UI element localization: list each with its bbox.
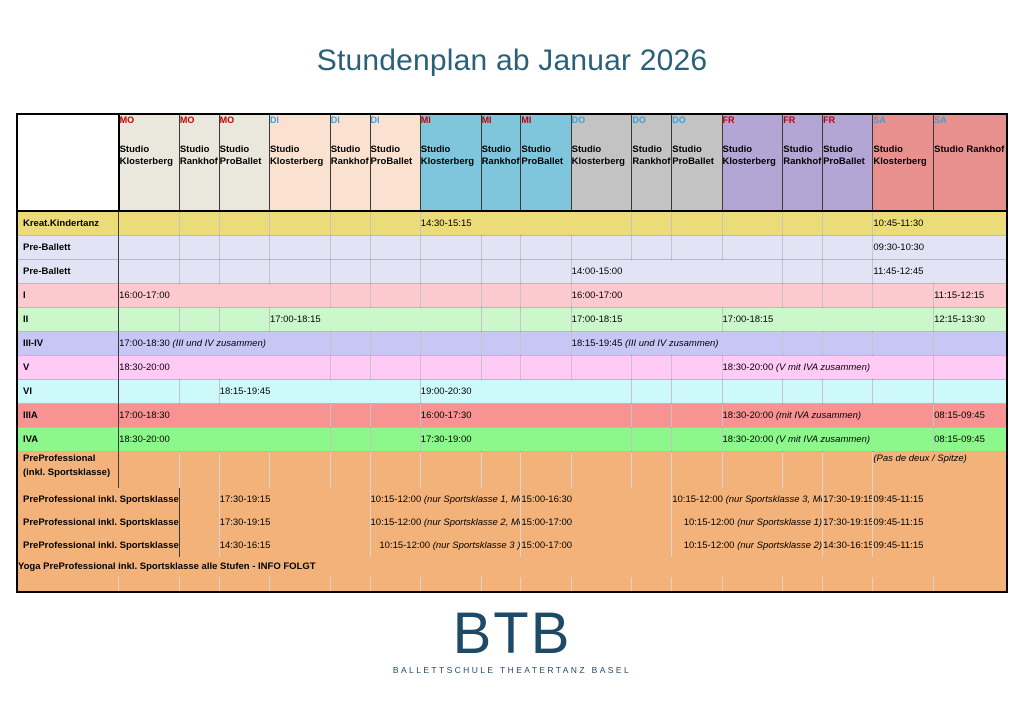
header-day-label: MI bbox=[521, 115, 570, 126]
row-label: III-IV bbox=[18, 332, 119, 356]
class-time: 18:30-20:00 bbox=[723, 410, 774, 421]
schedule-cell-empty bbox=[823, 211, 873, 236]
preprofessional-padding-cell bbox=[481, 577, 521, 591]
page-title: Stundenplan ab Januar 2026 bbox=[0, 44, 1024, 78]
class-time: 16:00-17:30 bbox=[421, 410, 472, 421]
header-cell-mo-3: MOStudio ProBallet bbox=[219, 115, 269, 211]
class-note: (nur Sportsklasse 2, Modern) bbox=[421, 517, 521, 528]
schedule-cell-empty bbox=[370, 428, 420, 452]
class-note: (nur Sportsklasse 1) bbox=[734, 517, 822, 528]
schedule-cell-empty bbox=[823, 332, 873, 356]
preprofessional-cell: 15:00-17:00 bbox=[521, 511, 672, 534]
schedule-cell-empty bbox=[722, 211, 783, 236]
schedule-cell-empty bbox=[672, 356, 722, 380]
schedule-cell-empty bbox=[219, 236, 269, 260]
preprofessional-cell: 09:45-11:15 bbox=[873, 488, 1006, 511]
header-day-label: SA bbox=[934, 115, 1006, 126]
class-time: 17:00-18:15 bbox=[270, 314, 321, 325]
preprofessional-cell: 10:15-12:00 (nur Sportsklasse 2, Modern) bbox=[370, 511, 521, 534]
schedule-cell-empty bbox=[934, 380, 1006, 404]
schedule-cell-empty bbox=[370, 236, 420, 260]
header-studio-label: Studio ProBallet bbox=[823, 144, 872, 168]
class-time: 18:30-20:00 bbox=[119, 434, 170, 445]
row-label: Kreat.Kindertanz bbox=[18, 211, 119, 236]
schedule-cell-empty bbox=[823, 284, 873, 308]
class-note: (nur Sportsklasse 3 ) bbox=[430, 540, 520, 551]
header-day-label: DI bbox=[371, 115, 420, 126]
header-day-label: MI bbox=[421, 115, 481, 126]
preprofessional-header-cell bbox=[722, 452, 783, 488]
schedule-cell-empty bbox=[330, 284, 370, 308]
class-time: 10:15-12:00 bbox=[684, 540, 735, 551]
schedule-row: II17:00-18:1517:00-18:1517:00-18:1512:15… bbox=[18, 308, 1006, 332]
class-time: 10:15-12:00 bbox=[371, 494, 422, 505]
schedule-row: Kreat.Kindertanz14:30-15:1510:45-11:30 bbox=[18, 211, 1006, 236]
preprofessional-cell: 10:15-12:00 (nur Sportsklasse 3 ) bbox=[370, 534, 521, 557]
schedule-cell-empty bbox=[330, 356, 370, 380]
schedule-row: IIIA17:00-18:3016:00-17:3018:30-20:00 (m… bbox=[18, 404, 1006, 428]
preprofessional-header-cell bbox=[672, 452, 722, 488]
header-day-label: SA bbox=[873, 115, 933, 126]
schedule-cell-empty bbox=[119, 211, 180, 236]
schedule-cell-empty bbox=[783, 332, 823, 356]
preprofessional-row-label: PreProfessional inkl. Sportsklassen 1 bbox=[18, 488, 179, 511]
class-time: 17:30-19:00 bbox=[421, 434, 472, 445]
preprofessional-cell-empty bbox=[179, 534, 219, 557]
preprofessional-footer-row: Yoga PreProfessional inkl. Sportsklasse … bbox=[18, 557, 1006, 577]
header-studio-label: Studio Rankhof bbox=[783, 144, 822, 168]
schedule-row: I16:00-17:0016:00-17:0011:15-12:15 bbox=[18, 284, 1006, 308]
header-studio-label: Studio Klosterberg bbox=[723, 144, 783, 168]
schedule-cell: 11:45-12:45 bbox=[873, 260, 1006, 284]
preprofessional-header-row: PreProfessional (inkl. Sportsklasse)(Pas… bbox=[18, 452, 1006, 488]
header-day-label: FR bbox=[723, 115, 783, 126]
schedule-cell-empty bbox=[481, 332, 521, 356]
class-time: 17:30-19:15 bbox=[823, 494, 873, 505]
schedule-cell-empty bbox=[632, 404, 672, 428]
preprofessional-cell: 10:15-12:00 (nur Sportsklasse 1, Modern) bbox=[370, 488, 521, 511]
class-note: (nur Sportsklasse 3, Modern) bbox=[723, 494, 823, 505]
preprofessional-note: (Pas de deux / Spitze) bbox=[873, 452, 1006, 488]
row-label: IVA bbox=[18, 428, 119, 452]
schedule-cell-empty bbox=[722, 380, 783, 404]
schedule-cell-empty bbox=[179, 236, 219, 260]
preprofessional-header-cell bbox=[179, 452, 219, 488]
preprofessional-padding-cell bbox=[18, 577, 119, 591]
class-note: (V mit IVA zusammen) bbox=[773, 362, 870, 373]
pas-de-deux-note: (Pas de deux / Spitze) bbox=[873, 453, 966, 464]
schedule-cell-empty bbox=[179, 211, 219, 236]
schedule-cell-empty bbox=[370, 211, 420, 236]
preprofessional-padding-cell bbox=[420, 577, 481, 591]
class-time: 10:15-12:00 bbox=[684, 517, 735, 528]
schedule-cell-empty bbox=[934, 356, 1006, 380]
schedule-cell-empty bbox=[481, 308, 521, 332]
schedule-cell: 19:00-20:30 bbox=[420, 380, 632, 404]
class-time: 16:00-17:00 bbox=[572, 290, 623, 301]
class-time: 18:30-20:00 bbox=[723, 434, 774, 445]
schedule-cell-empty bbox=[571, 356, 632, 380]
header-day-label: DO bbox=[572, 115, 632, 126]
preprofessional-header-cell bbox=[420, 452, 481, 488]
header-cell-do-10: DOStudio Klosterberg bbox=[571, 115, 632, 211]
schedule-cell-empty bbox=[722, 236, 783, 260]
schedule-cell-empty bbox=[420, 332, 481, 356]
header-day-label: MI bbox=[482, 115, 521, 126]
schedule-cell-empty bbox=[330, 332, 370, 356]
preprofessional-padding-cell bbox=[370, 577, 420, 591]
schedule-cell: 16:00-17:00 bbox=[571, 284, 783, 308]
schedule-cell-empty bbox=[219, 308, 269, 332]
preprofessional-cell: 14:30-16:15 bbox=[823, 534, 873, 557]
schedule-cell: 18:30-20:00 (V mit IVA zusammen) bbox=[722, 356, 934, 380]
preprofessional-cell-empty bbox=[179, 488, 219, 511]
header-studio-label: Studio Klosterberg bbox=[572, 144, 632, 168]
header-day-label: DO bbox=[672, 115, 721, 126]
logo-tagline: BALLETTSCHULE THEATERTANZ BASEL bbox=[0, 665, 1024, 675]
schedule-cell-empty bbox=[783, 284, 823, 308]
schedule-cell: 16:00-17:30 bbox=[420, 404, 632, 428]
header-studio-label: Studio Klosterberg bbox=[873, 144, 933, 168]
schedule-cell-empty bbox=[632, 380, 672, 404]
schedule-cell-empty bbox=[783, 236, 823, 260]
class-time: 18:30-20:00 bbox=[119, 362, 170, 373]
schedule-cell: 17:00-18:30 bbox=[119, 404, 331, 428]
header-day-label: DI bbox=[270, 115, 330, 126]
preprofessional-cell: 14:30-16:15 bbox=[219, 534, 370, 557]
schedule-cell-empty bbox=[481, 236, 521, 260]
preprofessional-row-label: PreProfessional inkl. Sportsklassen 2 bbox=[18, 511, 179, 534]
schedule-cell-empty bbox=[269, 260, 330, 284]
schedule-row: V18:30-20:0018:30-20:00 (V mit IVA zusam… bbox=[18, 356, 1006, 380]
class-time: 17:00-18:15 bbox=[572, 314, 623, 325]
schedule-cell-empty bbox=[370, 356, 420, 380]
header-day-label: DO bbox=[632, 115, 671, 126]
header-cell-fr-14: FRStudio Rankhof bbox=[783, 115, 823, 211]
schedule-cell-empty bbox=[370, 284, 420, 308]
preprofessional-cell: 17:30-19:15 bbox=[219, 511, 370, 534]
schedule-cell-empty bbox=[269, 211, 330, 236]
preprofessional-header-cell bbox=[632, 452, 672, 488]
schedule-cell-empty bbox=[934, 332, 1006, 356]
header-day-label: MO bbox=[220, 115, 269, 126]
header-cell-sa-17: SAStudio Rankhof bbox=[934, 115, 1006, 211]
class-time: 16:00-17:00 bbox=[119, 290, 170, 301]
schedule-cell-empty bbox=[420, 356, 481, 380]
schedule-cell-empty bbox=[481, 284, 521, 308]
schedule-cell-empty bbox=[521, 284, 571, 308]
class-time: 17:00-18:30 bbox=[119, 410, 170, 421]
row-label: V bbox=[18, 356, 119, 380]
preprofessional-padding-cell bbox=[219, 577, 269, 591]
schedule-cell-empty bbox=[521, 332, 571, 356]
class-time: 18:15-19:45 bbox=[220, 386, 271, 397]
header-cell-do-12: DOStudio ProBallet bbox=[672, 115, 722, 211]
class-time: 09:45-11:15 bbox=[873, 517, 923, 528]
preprofessional-padding-cell bbox=[330, 577, 370, 591]
header-studio-label: Studio Klosterberg bbox=[270, 144, 330, 168]
preprofessional-padding-cell bbox=[823, 577, 873, 591]
schedule-row: Pre-Ballett14:00-15:0011:45-12:45 bbox=[18, 260, 1006, 284]
header-cell-do-11: DOStudio Rankhof bbox=[632, 115, 672, 211]
schedule-cell: 17:00-18:15 bbox=[722, 308, 934, 332]
schedule-cell: 17:00-18:15 bbox=[571, 308, 722, 332]
schedule-cell-empty bbox=[672, 211, 722, 236]
schedule-cell-empty bbox=[672, 428, 722, 452]
row-label: II bbox=[18, 308, 119, 332]
preprofessional-padding-cell bbox=[179, 577, 219, 591]
schedule-cell: 08:15-09:45 bbox=[934, 428, 1006, 452]
schedule-cell-empty bbox=[521, 308, 571, 332]
header-cell-mi-7: MIStudio Klosterberg bbox=[420, 115, 481, 211]
schedule-cell-empty bbox=[823, 380, 873, 404]
header-cell-di-4: DIStudio Klosterberg bbox=[269, 115, 330, 211]
schedule-cell-empty bbox=[330, 236, 370, 260]
yoga-info-text: Yoga PreProfessional inkl. Sportsklasse … bbox=[18, 557, 1006, 577]
header-cell-mi-8: MIStudio Rankhof bbox=[481, 115, 521, 211]
header-studio-label: Studio ProBallet bbox=[220, 144, 269, 168]
preprofessional-padding-cell bbox=[873, 577, 934, 591]
preprofessional-cell: 15:00-17:00 bbox=[521, 534, 672, 557]
preprofessional-row: PreProfessional inkl. Sportsklassen 314:… bbox=[18, 534, 1006, 557]
schedule-row: VI18:15-19:4519:00-20:30 bbox=[18, 380, 1006, 404]
preprofessional-padding-cell bbox=[672, 577, 722, 591]
class-time: 10:15-12:00 bbox=[371, 517, 422, 528]
class-time: 19:00-20:30 bbox=[421, 386, 472, 397]
schedule-cell: 17:30-19:00 bbox=[420, 428, 632, 452]
row-label: VI bbox=[18, 380, 119, 404]
preprofessional-cell: 09:45-11:15 bbox=[873, 511, 1006, 534]
schedule-cell-empty bbox=[672, 236, 722, 260]
preprofessional-header-cell bbox=[330, 452, 370, 488]
schedule-cell-empty bbox=[873, 380, 934, 404]
header-cell-di-6: DIStudio ProBallet bbox=[370, 115, 420, 211]
schedule-cell-empty bbox=[179, 260, 219, 284]
schedule-cell: 14:00-15:00 bbox=[571, 260, 783, 284]
schedule-header: MOStudio KlosterbergMOStudio RankhofMOSt… bbox=[18, 115, 1006, 211]
class-time: 14:00-15:00 bbox=[572, 266, 623, 277]
preprofessional-header-cell bbox=[783, 452, 823, 488]
preprofessional-cell: 10:15-12:00 (nur Sportsklasse 2) bbox=[672, 534, 823, 557]
preprofessional-cell: 17:30-19:15 bbox=[823, 488, 873, 511]
header-cell-mo-2: MOStudio Rankhof bbox=[179, 115, 219, 211]
header-day-label: MO bbox=[120, 115, 179, 126]
preprofessional-title: PreProfessional (inkl. Sportsklasse) bbox=[18, 452, 119, 488]
schedule-cell-empty bbox=[632, 356, 672, 380]
class-time: 08:15-09:45 bbox=[934, 410, 985, 421]
schedule-cell-empty bbox=[783, 260, 823, 284]
schedule-cell-empty bbox=[481, 260, 521, 284]
preprofessional-padding-cell bbox=[722, 577, 783, 591]
class-time: 17:00-18:30 bbox=[119, 338, 170, 349]
schedule-cell: 14:30-15:15 bbox=[420, 211, 632, 236]
schedule-cell-empty bbox=[873, 284, 934, 308]
class-time: 08:15-09:45 bbox=[934, 434, 985, 445]
schedule-cell-empty bbox=[823, 236, 873, 260]
class-note: (III und IV zusammen) bbox=[622, 338, 718, 349]
schedule-cell: 09:30-10:30 bbox=[873, 236, 1006, 260]
preprofessional-cell: 17:30-19:15 bbox=[823, 511, 873, 534]
class-note: (V mit IVA zusammen) bbox=[773, 434, 870, 445]
schedule-cell-empty bbox=[219, 260, 269, 284]
preprofessional-padding-cell bbox=[783, 577, 823, 591]
class-time: 09:45-11:15 bbox=[873, 540, 923, 551]
schedule-cell-empty bbox=[119, 236, 180, 260]
header-studio-label: Studio ProBallet bbox=[672, 144, 721, 168]
header-studio-label: Studio ProBallet bbox=[521, 144, 570, 168]
preprofessional-cell: 10:15-12:00 (nur Sportsklasse 3, Modern) bbox=[672, 488, 823, 511]
class-time: 15:00-17:00 bbox=[521, 517, 572, 528]
header-studio-label: Studio Klosterberg bbox=[120, 144, 179, 168]
header-cell-sa-16: SAStudio Klosterberg bbox=[873, 115, 934, 211]
class-time: 15:00-17:00 bbox=[521, 540, 572, 551]
schedule-cell-empty bbox=[823, 260, 873, 284]
header-studio-label: Studio Rankhof bbox=[934, 144, 1006, 156]
class-time: 18:15-19:45 bbox=[572, 338, 623, 349]
schedule-cell-empty bbox=[632, 236, 672, 260]
schedule-cell: 18:15-19:45 bbox=[219, 380, 420, 404]
class-time: 11:15-12:15 bbox=[934, 290, 984, 301]
schedule-cell: 17:00-18:15 bbox=[269, 308, 481, 332]
btb-logo: BTB BALLETTSCHULE THEATERTANZ BASEL bbox=[0, 605, 1024, 675]
header-studio-label: Studio Rankhof bbox=[180, 144, 219, 168]
schedule-cell-empty bbox=[330, 260, 370, 284]
preprofessional-header-cell bbox=[823, 452, 873, 488]
class-note: (mit IVA zusammen) bbox=[773, 410, 861, 421]
header-row: MOStudio KlosterbergMOStudio RankhofMOSt… bbox=[18, 115, 1006, 211]
schedule-cell-empty bbox=[370, 404, 420, 428]
preprofessional-padding-cell bbox=[269, 577, 330, 591]
schedule-cell-empty bbox=[119, 308, 180, 332]
schedule-cell: 18:15-19:45 (III und IV zusammen) bbox=[571, 332, 783, 356]
schedule-cell-empty bbox=[632, 428, 672, 452]
class-time: 10:15-12:00 bbox=[672, 494, 723, 505]
class-note: (nur Sportsklasse 1, Modern) bbox=[421, 494, 521, 505]
preprofessional-cell: 10:15-12:00 (nur Sportsklasse 1) bbox=[672, 511, 823, 534]
class-time: 17:30-19:15 bbox=[220, 517, 271, 528]
schedule-cell: 18:30-20:00 bbox=[119, 428, 331, 452]
schedule-table: MOStudio KlosterbergMOStudio RankhofMOSt… bbox=[18, 115, 1006, 591]
header-day-label: DI bbox=[331, 115, 370, 126]
header-cell-fr-15: FRStudio ProBallet bbox=[823, 115, 873, 211]
schedule-cell-empty bbox=[521, 356, 571, 380]
schedule-cell: 16:00-17:00 bbox=[119, 284, 331, 308]
schedule-cell-empty bbox=[420, 236, 481, 260]
schedule-page: Stundenplan ab Januar 2026 MOStudio Klos… bbox=[0, 0, 1024, 724]
class-time: 15:00-16:30 bbox=[521, 494, 572, 505]
schedule-cell-empty bbox=[330, 404, 370, 428]
class-time: 11:45-12:45 bbox=[873, 266, 923, 277]
class-time: 14:30-15:15 bbox=[421, 218, 472, 229]
preprofessional-padding-row bbox=[18, 577, 1006, 591]
header-day-label: FR bbox=[823, 115, 872, 126]
schedule-cell: 18:30-20:00 (mit IVA zusammen) bbox=[722, 404, 934, 428]
preprofessional-header-cell bbox=[219, 452, 269, 488]
preprofessional-padding-cell bbox=[632, 577, 672, 591]
schedule-cell: 18:30-20:00 (V mit IVA zusammen) bbox=[722, 428, 934, 452]
schedule-cell-empty bbox=[783, 211, 823, 236]
preprofessional-cell: 09:45-11:15 bbox=[873, 534, 1006, 557]
header-studio-label: Studio Klosterberg bbox=[421, 144, 481, 168]
schedule-body: Kreat.Kindertanz14:30-15:1510:45-11:30Pr… bbox=[18, 211, 1006, 591]
header-day-label: MO bbox=[180, 115, 219, 126]
preprofessional-header-cell bbox=[481, 452, 521, 488]
preprofessional-padding-cell bbox=[934, 577, 1006, 591]
preprofessional-cell: 15:00-16:30 bbox=[521, 488, 672, 511]
schedule-cell-empty bbox=[420, 284, 481, 308]
header-studio-label: Studio Rankhof bbox=[331, 144, 370, 168]
schedule-cell-empty bbox=[330, 428, 370, 452]
class-time: 14:30-16:15 bbox=[823, 540, 873, 551]
preprofessional-padding-cell bbox=[119, 577, 180, 591]
preprofessional-header-cell bbox=[571, 452, 632, 488]
schedule-cell-empty bbox=[179, 380, 219, 404]
row-label: Pre-Ballett bbox=[18, 236, 119, 260]
preprofessional-header-cell bbox=[521, 452, 571, 488]
schedule-cell: 08:15-09:45 bbox=[934, 404, 1006, 428]
row-label: I bbox=[18, 284, 119, 308]
row-label: IIIA bbox=[18, 404, 119, 428]
schedule-row: IVA18:30-20:0017:30-19:0018:30-20:00 (V … bbox=[18, 428, 1006, 452]
schedule-cell-empty bbox=[269, 236, 330, 260]
preprofessional-row: PreProfessional inkl. Sportsklassen 117:… bbox=[18, 488, 1006, 511]
schedule-cell-empty bbox=[672, 380, 722, 404]
header-corner-cell bbox=[18, 115, 119, 211]
schedule-cell-empty bbox=[481, 356, 521, 380]
preprofessional-row-label: PreProfessional inkl. Sportsklassen 3 bbox=[18, 534, 179, 557]
schedule-cell-empty bbox=[219, 211, 269, 236]
schedule-cell-empty bbox=[672, 404, 722, 428]
preprofessional-padding-cell bbox=[521, 577, 571, 591]
preprofessional-cell: 17:30-19:15 bbox=[219, 488, 370, 511]
schedule-cell: 17:00-18:30 (III und IV zusammen) bbox=[119, 332, 331, 356]
class-note: (III und IV zusammen) bbox=[170, 338, 266, 349]
class-time: 09:30-10:30 bbox=[873, 242, 924, 253]
schedule-cell-empty bbox=[370, 332, 420, 356]
schedule-cell: 10:45-11:30 bbox=[873, 211, 1006, 236]
preprofessional-cell-empty bbox=[179, 511, 219, 534]
header-cell-di-5: DIStudio Rankhof bbox=[330, 115, 370, 211]
class-time: 10:15-12:00 bbox=[379, 540, 430, 551]
preprofessional-padding-cell bbox=[571, 577, 632, 591]
preprofessional-header-cell bbox=[119, 452, 180, 488]
header-cell-mo-1: MOStudio Klosterberg bbox=[119, 115, 180, 211]
schedule-cell: 11:15-12:15 bbox=[934, 284, 1006, 308]
class-time: 12:15-13:30 bbox=[934, 314, 985, 325]
class-time: 09:45-11:15 bbox=[873, 494, 923, 505]
schedule-cell-empty bbox=[420, 260, 481, 284]
header-cell-fr-13: FRStudio Klosterberg bbox=[722, 115, 783, 211]
schedule-cell-empty bbox=[330, 211, 370, 236]
preprofessional-row: PreProfessional inkl. Sportsklassen 217:… bbox=[18, 511, 1006, 534]
schedule-cell-empty bbox=[119, 380, 180, 404]
preprofessional-header-cell bbox=[370, 452, 420, 488]
class-time: 17:00-18:15 bbox=[723, 314, 774, 325]
preprofessional-header-cell bbox=[269, 452, 330, 488]
schedule-cell-empty bbox=[119, 260, 180, 284]
class-time: 17:30-19:15 bbox=[823, 517, 873, 528]
class-note: (nur Sportsklasse 2) bbox=[734, 540, 822, 551]
header-day-label: FR bbox=[783, 115, 822, 126]
schedule-table-container: MOStudio KlosterbergMOStudio RankhofMOSt… bbox=[16, 113, 1008, 593]
header-studio-label: Studio Rankhof bbox=[632, 144, 671, 168]
schedule-cell-empty bbox=[370, 260, 420, 284]
logo-mark: BTB bbox=[0, 605, 1024, 663]
schedule-row: III-IV17:00-18:30 (III und IV zusammen)1… bbox=[18, 332, 1006, 356]
class-time: 18:30-20:00 bbox=[723, 362, 774, 373]
schedule-cell-empty bbox=[571, 236, 632, 260]
header-studio-label: Studio Rankhof bbox=[482, 144, 521, 168]
